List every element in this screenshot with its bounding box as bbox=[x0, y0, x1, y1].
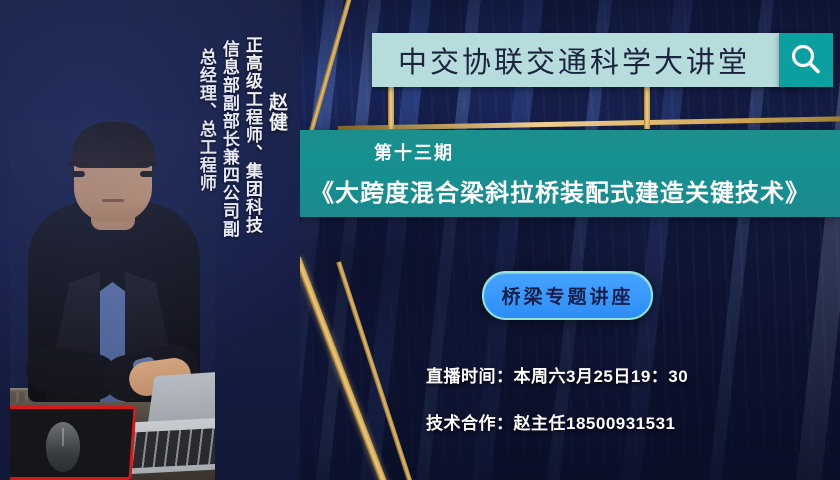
arm-right bbox=[99, 341, 202, 406]
laptop-lid bbox=[146, 368, 215, 436]
shirt bbox=[90, 282, 136, 402]
brand-title-text: 中交协联交通科学大讲堂 bbox=[372, 39, 750, 81]
live-stream-poster: 赵健 正高级工程师、集团科技 信息部副部长兼四公司副 总经理、总工程师 中交协联… bbox=[0, 0, 840, 480]
suit-body bbox=[28, 202, 200, 402]
speaker-photo bbox=[10, 120, 215, 480]
eyebrow-right bbox=[137, 162, 157, 166]
suit-lapel-left bbox=[44, 272, 100, 402]
eyebrow-left bbox=[68, 162, 88, 166]
search-icon bbox=[789, 43, 823, 77]
gold-post-right bbox=[644, 87, 650, 129]
arm-left bbox=[23, 342, 122, 403]
technical-contact: 技术合作：赵主任18500931531 bbox=[426, 409, 688, 434]
lecture-title: 《大跨度混合梁斜拉桥装配式建造关键技术》 bbox=[300, 173, 840, 208]
suit-lapel-right bbox=[125, 272, 181, 402]
poster-art-panel: 中交协联交通科学大讲堂 第十三期 《大跨度混合梁斜拉桥装配式建造关键技术》 桥梁… bbox=[300, 0, 840, 480]
lecture-banner: 第十三期 《大跨度混合梁斜拉桥装配式建造关键技术》 bbox=[300, 130, 840, 217]
speaker-title-line-1: 正高级工程师、集团科技 bbox=[243, 36, 261, 234]
laptop-keyboard bbox=[110, 427, 215, 470]
clasped-hands bbox=[127, 356, 193, 398]
episode-label: 第十三期 bbox=[300, 139, 840, 165]
neck bbox=[91, 194, 135, 230]
eye-left bbox=[70, 171, 85, 177]
computer-mouse bbox=[46, 422, 80, 472]
eye-right bbox=[140, 171, 155, 177]
desk bbox=[10, 388, 215, 480]
mouse-pad bbox=[10, 406, 137, 480]
search-button[interactable] bbox=[779, 33, 833, 87]
shirt-cuff bbox=[132, 356, 161, 390]
speaker-name: 赵健 bbox=[266, 92, 286, 132]
gold-post-left bbox=[388, 87, 394, 129]
head bbox=[74, 126, 152, 222]
speaker-title-line-3: 总经理、总工程师 bbox=[197, 48, 215, 192]
brand-title-bar: 中交协联交通科学大讲堂 bbox=[372, 33, 802, 87]
speaker-title-line-2: 信息部副部长兼四公司副 bbox=[220, 40, 238, 238]
laptop-base bbox=[95, 416, 215, 476]
speaker-panel: 赵健 正高级工程师、集团科技 信息部副部长兼四公司副 总经理、总工程师 bbox=[0, 0, 300, 480]
speaker-credentials: 赵健 正高级工程师、集团科技 信息部副部长兼四公司副 总经理、总工程师 bbox=[197, 14, 300, 238]
hair bbox=[71, 122, 155, 168]
topic-badge-label: 桥梁专题讲座 bbox=[501, 282, 633, 309]
info-block: 直播时间：本周六3月25日19：30 技术合作：赵主任18500931531 bbox=[426, 362, 688, 456]
photo-backdrop bbox=[10, 120, 215, 480]
topic-badge[interactable]: 桥梁专题讲座 bbox=[482, 271, 653, 320]
broadcast-time: 直播时间：本周六3月25日19：30 bbox=[426, 362, 688, 387]
mouth bbox=[102, 199, 124, 202]
